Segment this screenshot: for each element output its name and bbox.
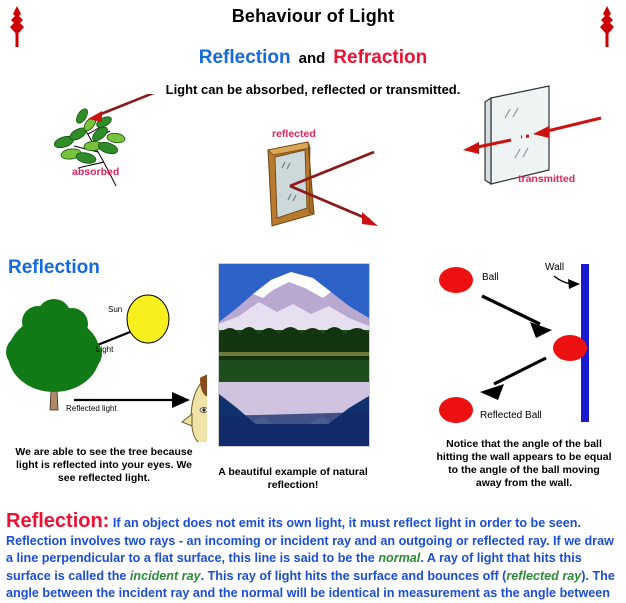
paragraph-emphasis-incident-ray: incident ray (130, 569, 201, 583)
reflection-caption: We are able to see the tree because ligh… (6, 446, 202, 485)
triptych-row: absorbed reflected (0, 96, 626, 221)
paragraph-emphasis-normal: normal (378, 551, 420, 565)
transmitted-label: transmitted (518, 173, 575, 185)
section-heading-reflection: Reflection (8, 257, 100, 279)
reflected-light-label: Reflected light (66, 404, 117, 413)
paragraph-part-3: . This ray of light hits the surface and… (201, 569, 507, 583)
reflected-label: reflected (272, 128, 316, 140)
sun-label: Sun (108, 305, 122, 314)
absorbed-label: absorbed (72, 166, 119, 178)
subtitle: ReflectionandRefraction (0, 47, 626, 69)
reflection-paragraph: Reflection: If an object does not emit i… (6, 512, 622, 603)
reflected-diagram (262, 138, 382, 238)
photo-caption: A beautiful example of natural reflectio… (218, 466, 368, 492)
paragraph-emphasis-reflected-ray: reflected ray (506, 569, 581, 583)
light-label: Light (96, 345, 113, 354)
lake-reflection-photo (218, 263, 370, 447)
wall-label: Wall (545, 262, 564, 273)
absorbed-diagram (38, 94, 213, 194)
subtitle-and: and (299, 50, 326, 67)
slide-root: Behaviour of Light ReflectionandRefracti… (0, 0, 626, 600)
subtitle-refraction: Refraction (333, 47, 427, 68)
page-title: Behaviour of Light (0, 6, 626, 27)
ball-wall-caption: Notice that the angle of the ball hittin… (434, 438, 614, 490)
ball-label: Ball (482, 272, 499, 283)
reflection-diagram (2, 292, 207, 442)
paragraph-lead-word: Reflection: (6, 510, 109, 532)
reflected-ball-label: Reflected Ball (480, 410, 542, 421)
subtitle-reflection: Reflection (199, 47, 291, 68)
absorbed-ray-arrow (88, 94, 166, 122)
